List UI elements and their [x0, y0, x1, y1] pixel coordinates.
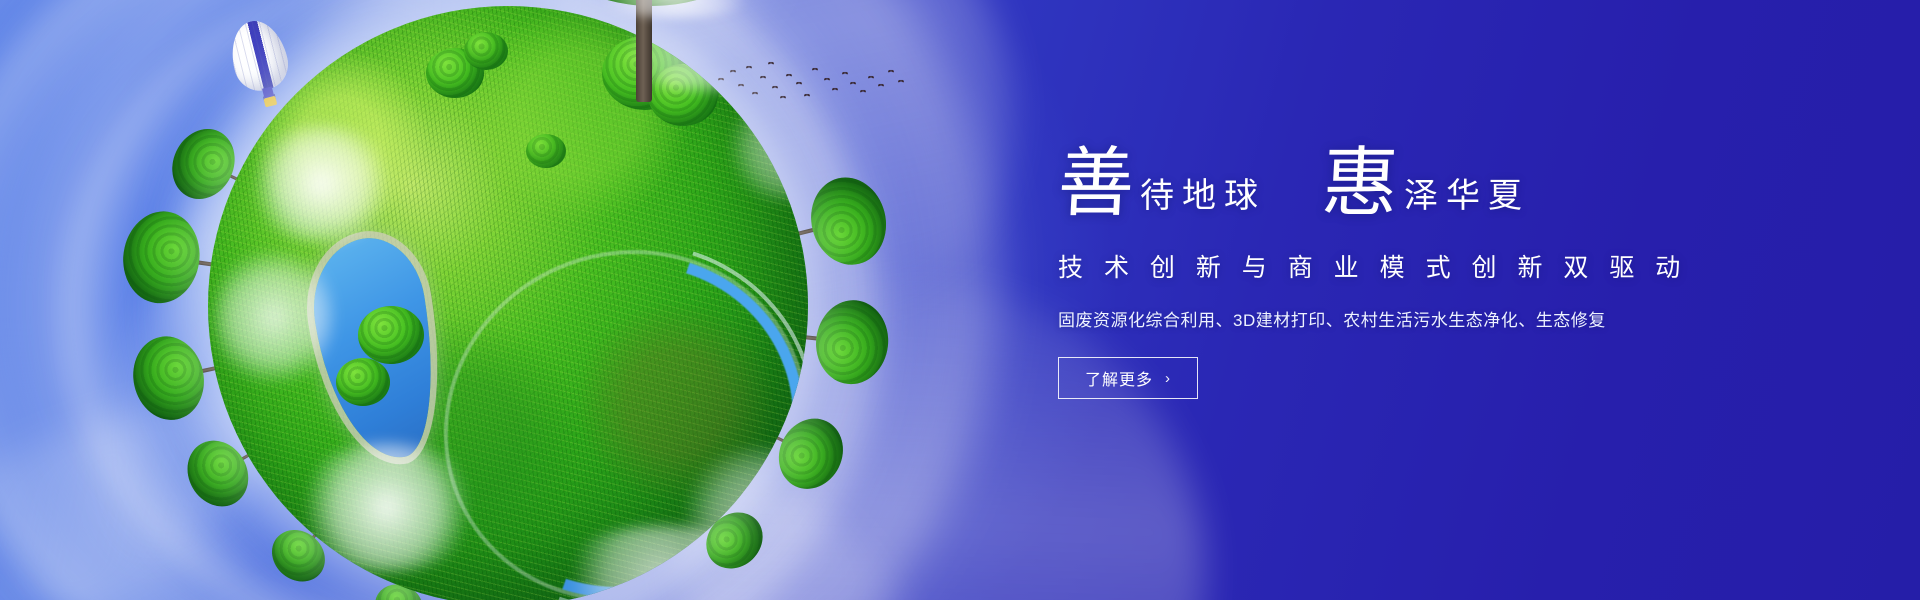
tiny-planet-globe — [148, 0, 868, 600]
bush — [358, 306, 424, 364]
hero-banner: 善 待地球 惠 泽华夏 技 术 创 新 与 商 业 模 式 创 新 双 驱 动 … — [0, 0, 1920, 600]
description: 固废资源化综合利用、3D建材打印、农村生活污水生态净化、生态修复 — [1058, 306, 1818, 331]
headline-rest-2: 泽华夏 — [1404, 180, 1530, 220]
headline-lead-char-1: 善 — [1056, 150, 1136, 220]
headline-lead-char-2: 惠 — [1320, 150, 1400, 220]
mist-cloud — [246, 124, 396, 244]
large-tree — [532, 0, 772, 102]
learn-more-label: 了解更多 — [1085, 366, 1153, 390]
headline-phrase-1: 善 待地球 — [1058, 150, 1266, 220]
headline-phrase-2: 惠 泽华夏 — [1322, 150, 1530, 220]
mist-cloud — [214, 242, 334, 392]
learn-more-button[interactable]: 了解更多 › — [1058, 357, 1198, 399]
headline-rest-1: 待地球 — [1140, 180, 1266, 220]
headline: 善 待地球 惠 泽华夏 — [1058, 128, 1818, 220]
chevron-right-icon: › — [1165, 370, 1171, 387]
tree-mist — [580, 0, 770, 18]
subtitle: 技 术 创 新 与 商 业 模 式 创 新 双 驱 动 — [1058, 248, 1818, 284]
bush — [526, 134, 566, 168]
bush — [464, 32, 508, 70]
bush — [336, 358, 390, 406]
mist-cloud — [292, 442, 482, 572]
hero-copy: 善 待地球 惠 泽华夏 技 术 创 新 与 商 业 模 式 创 新 双 驱 动 … — [1058, 128, 1818, 399]
